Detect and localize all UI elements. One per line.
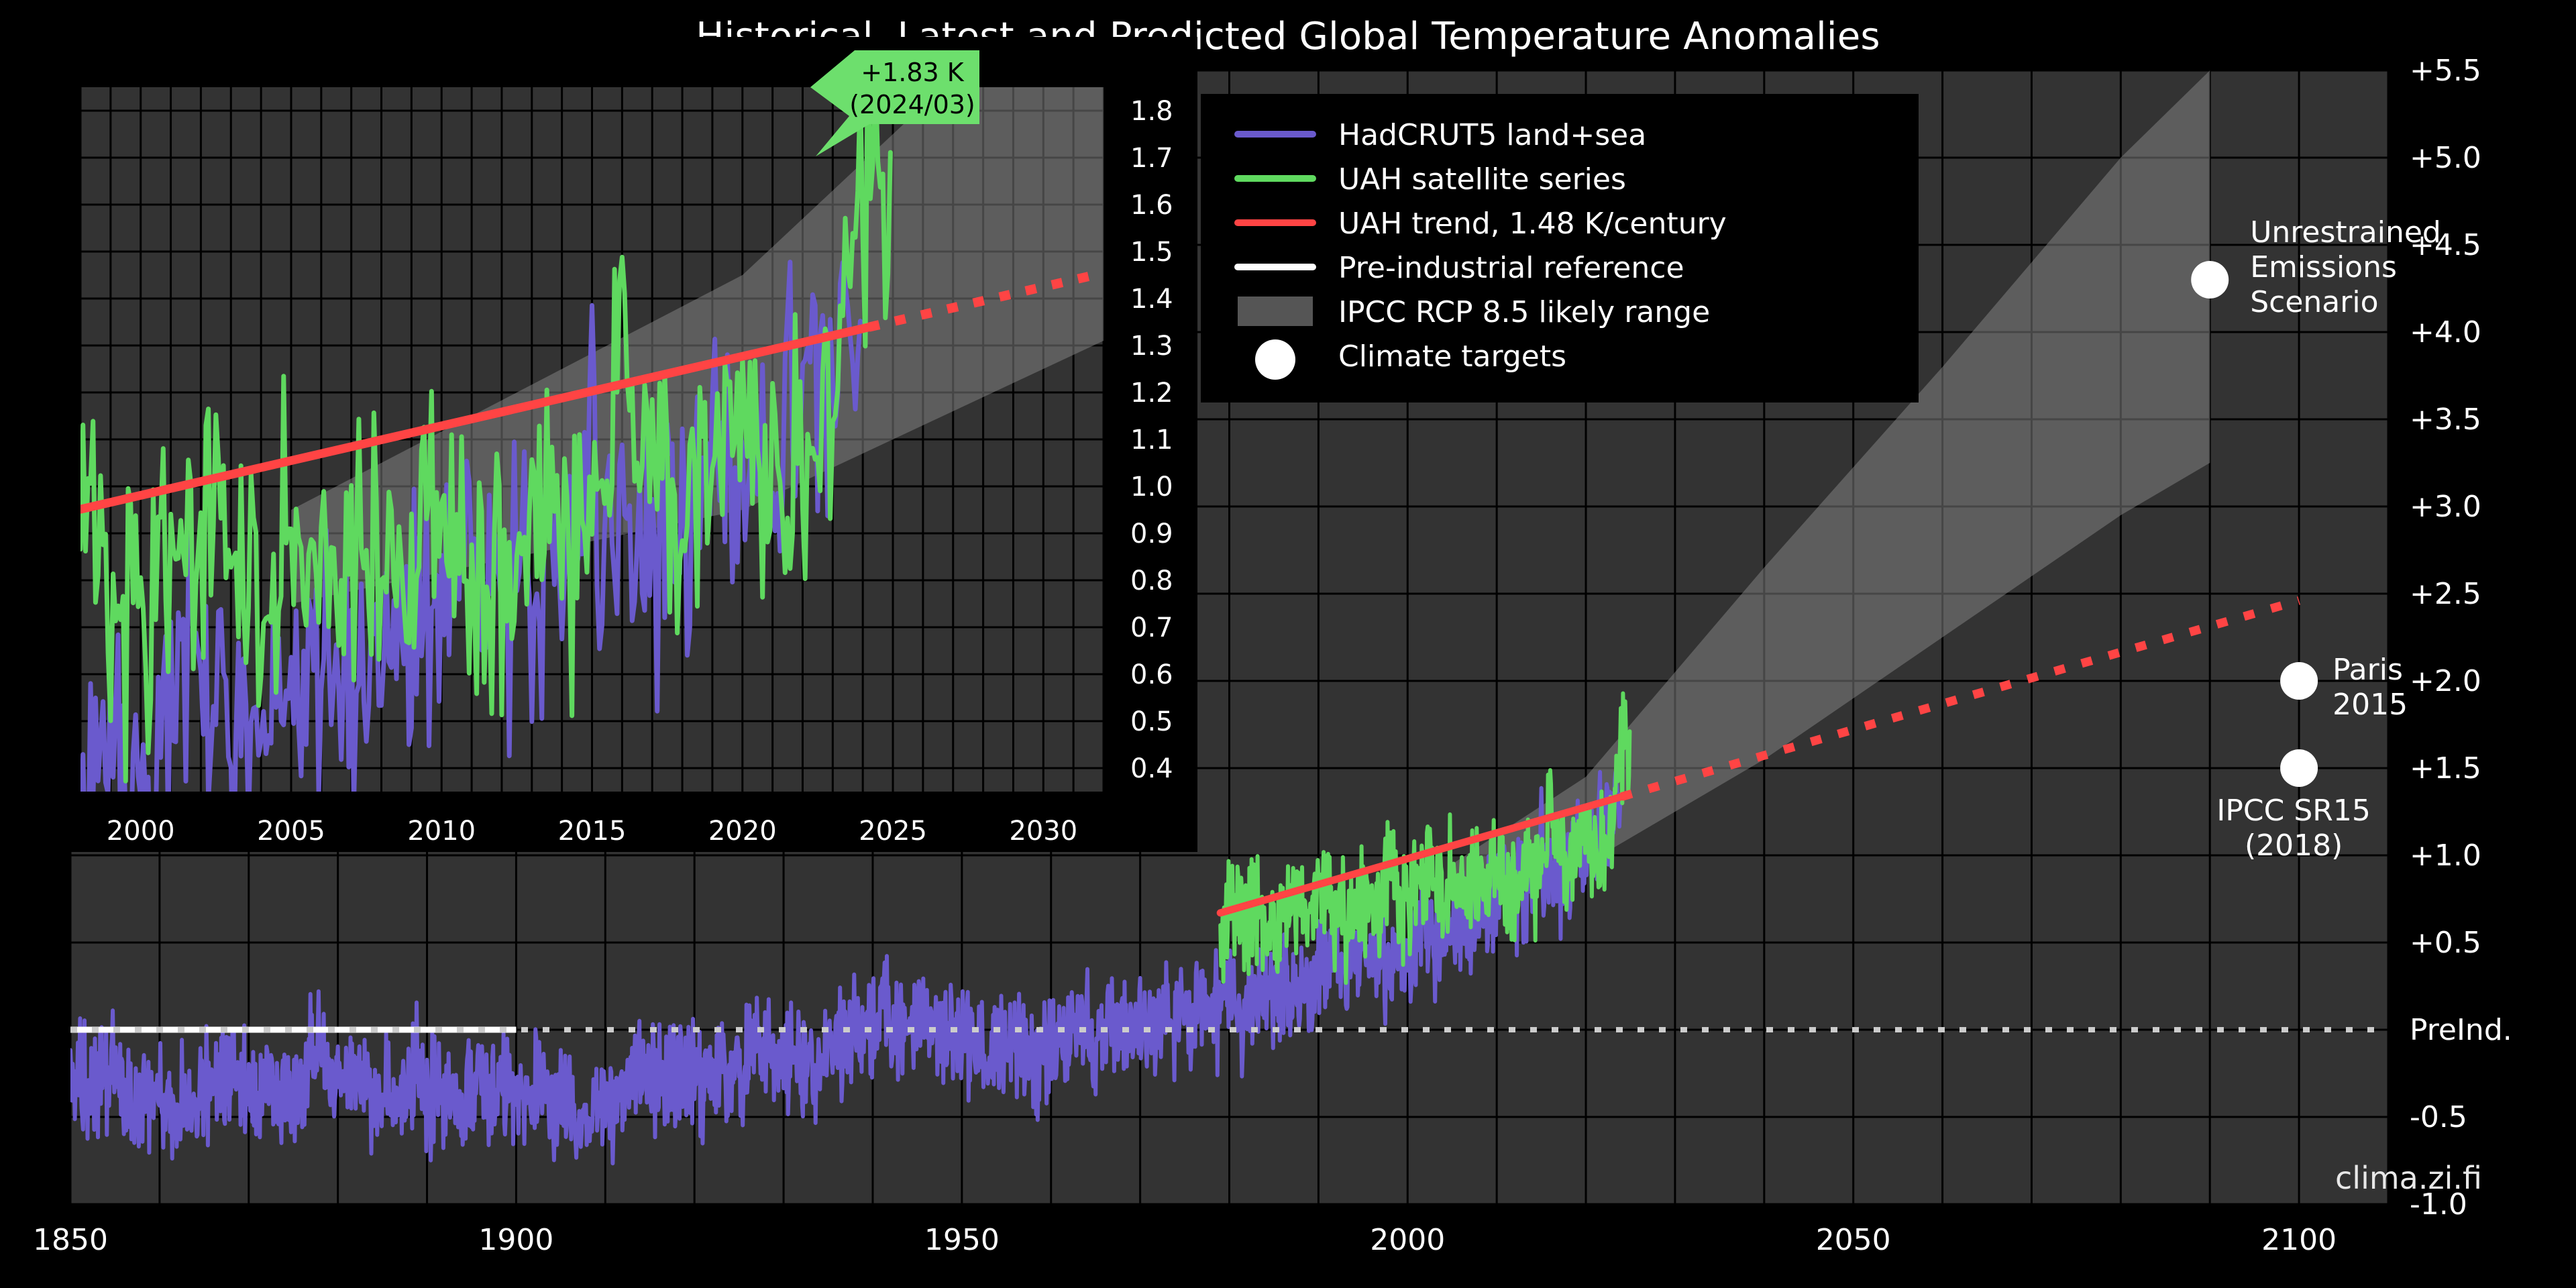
legend-item-label: Climate targets bbox=[1338, 339, 1566, 374]
inset-y-tick-label: 1.8 bbox=[1130, 96, 1173, 127]
legend-swatch-patch bbox=[1238, 297, 1313, 326]
inset-y-tick-label: 0.9 bbox=[1130, 519, 1173, 549]
inset-y-tick-label: 1.7 bbox=[1130, 143, 1173, 174]
inset-y-tick-label: 1.2 bbox=[1130, 378, 1173, 409]
inset-x-tick-label: 2030 bbox=[1009, 816, 1077, 847]
callout-value: +1.83 K bbox=[861, 58, 965, 87]
legend-item-label: IPCC RCP 8.5 likely range bbox=[1338, 295, 1710, 329]
legend-item-label: Pre-industrial reference bbox=[1338, 251, 1684, 285]
legend-item-label: UAH trend, 1.48 K/century bbox=[1338, 207, 1727, 241]
legend-item-label: UAH satellite series bbox=[1338, 162, 1626, 197]
callout-date: (2024/03) bbox=[849, 90, 975, 119]
inset-x-tick-label: 2025 bbox=[859, 816, 927, 847]
legend-item-label: HadCRUT5 land+sea bbox=[1338, 118, 1646, 152]
inset-y-tick-label: 0.5 bbox=[1130, 706, 1173, 737]
inset-y-tick-label: 1.3 bbox=[1130, 331, 1173, 362]
inset-y-tick-label: 1.1 bbox=[1130, 425, 1173, 455]
inset-y-tick-label: 1.0 bbox=[1130, 472, 1173, 502]
inset-x-tick-label: 2020 bbox=[708, 816, 777, 847]
chart-root: Historical, Latest and Predicted Global … bbox=[0, 0, 2576, 1288]
chart-overlay: 20002005201020152020202520300.40.50.60.7… bbox=[0, 0, 2576, 1288]
legend-swatch-marker bbox=[1255, 339, 1295, 380]
inset-y-tick-label: 0.8 bbox=[1130, 566, 1173, 596]
inset-x-tick-label: 2005 bbox=[257, 816, 325, 847]
inset-y-tick-label: 0.4 bbox=[1130, 753, 1173, 784]
inset-x-tick-label: 2000 bbox=[107, 816, 175, 847]
inset-y-tick-label: 1.5 bbox=[1130, 237, 1173, 268]
inset-y-tick-label: 0.6 bbox=[1130, 659, 1173, 690]
inset-x-tick-label: 2015 bbox=[558, 816, 627, 847]
inset-y-tick-label: 0.7 bbox=[1130, 612, 1173, 643]
inset-y-tick-label: 1.6 bbox=[1130, 190, 1173, 221]
inset-x-tick-label: 2010 bbox=[407, 816, 476, 847]
inset-y-tick-label: 1.4 bbox=[1130, 284, 1173, 315]
